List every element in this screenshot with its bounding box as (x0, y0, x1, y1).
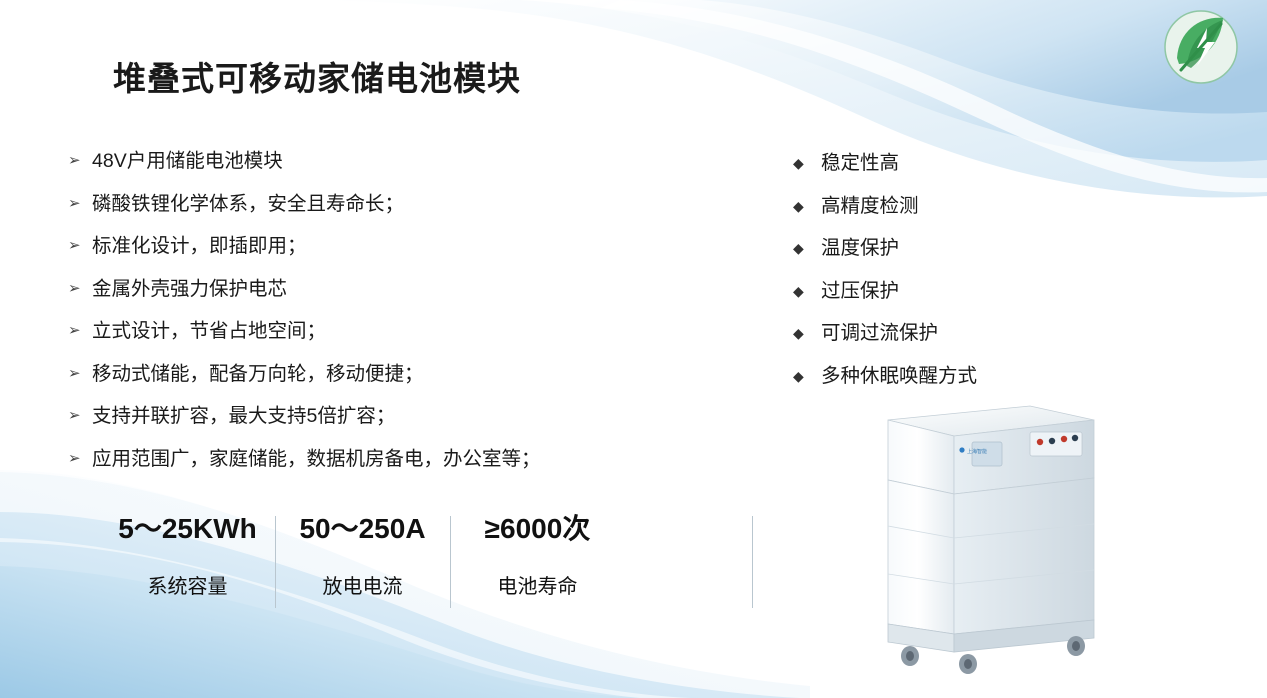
list-item: ◆ 温度保护 (793, 235, 1113, 261)
list-item-label: 移动式储能，配备万向轮，移动便捷； (92, 361, 424, 387)
diamond-bullet-icon: ◆ (793, 363, 821, 389)
list-item-label: 立式设计，节省占地空间； (92, 318, 326, 344)
spec-stats: 5～25KWh 系统容量 50～250A 放电电流 ≥6000次 电池寿命 (100, 512, 625, 600)
stat-label: 系统容量 (106, 574, 269, 600)
list-item: ➢ 48V户用储能电池模块 (68, 148, 708, 174)
arrow-bullet-icon: ➢ (68, 276, 92, 302)
list-item-label: 稳定性高 (821, 150, 899, 176)
list-item: ◆ 过压保护 (793, 278, 1113, 304)
stat-value: 50～250A (281, 512, 444, 546)
svg-text:上海智能: 上海智能 (967, 448, 987, 455)
stat-lifecycle: ≥6000次 电池寿命 (450, 512, 625, 600)
stat-capacity: 5～25KWh 系统容量 (100, 512, 275, 600)
list-item-label: 可调过流保护 (821, 320, 938, 346)
stats-divider (752, 516, 753, 608)
list-item: ➢ 磷酸铁锂化学体系，安全且寿命长； (68, 191, 708, 217)
list-item-label: 标准化设计，即插即用； (92, 233, 307, 259)
list-item-label: 48V户用储能电池模块 (92, 148, 283, 174)
arrow-bullet-icon: ➢ (68, 446, 92, 472)
stat-value: 5～25KWh (106, 512, 269, 546)
list-item: ◆ 高精度检测 (793, 193, 1113, 219)
stat-current: 50～250A 放电电流 (275, 512, 450, 600)
diamond-bullet-icon: ◆ (793, 150, 821, 176)
arrow-bullet-icon: ➢ (68, 318, 92, 344)
list-item: ➢ 金属外壳强力保护电芯 (68, 276, 708, 302)
slide-canvas: 堆叠式可移动家储电池模块 ➢ 48V户用储能电池模块 ➢ 磷酸铁锂化学体系，安全… (0, 0, 1267, 698)
arrow-bullet-icon: ➢ (68, 361, 92, 387)
company-logo (1157, 8, 1245, 86)
list-item-label: 温度保护 (821, 235, 899, 261)
list-item: ➢ 标准化设计，即插即用； (68, 233, 708, 259)
feature-list-right: ◆ 稳定性高 ◆ 高精度检测 ◆ 温度保护 ◆ 过压保护 ◆ 可调过流保护 ◆ … (793, 150, 1113, 405)
list-item: ➢ 立式设计，节省占地空间； (68, 318, 708, 344)
list-item: ➢ 支持并联扩容，最大支持5倍扩容； (68, 403, 708, 429)
list-item: ➢ 应用范围广，家庭储能，数据机房备电，办公室等； (68, 446, 708, 472)
arrow-bullet-icon: ➢ (68, 148, 92, 174)
product-image: 上海智能 (880, 398, 1115, 683)
arrow-bullet-icon: ➢ (68, 403, 92, 429)
list-item: ◆ 稳定性高 (793, 150, 1113, 176)
stat-value: ≥6000次 (456, 512, 619, 546)
list-item-label: 应用范围广，家庭储能，数据机房备电，办公室等； (92, 446, 541, 472)
arrow-bullet-icon: ➢ (68, 191, 92, 217)
list-item: ◆ 多种休眠唤醒方式 (793, 363, 1113, 389)
page-title: 堆叠式可移动家储电池模块 (113, 52, 521, 100)
diamond-bullet-icon: ◆ (793, 278, 821, 304)
list-item-label: 支持并联扩容，最大支持5倍扩容； (92, 403, 395, 429)
stat-label: 电池寿命 (456, 574, 619, 600)
list-item-label: 过压保护 (821, 278, 899, 304)
list-item: ➢ 移动式储能，配备万向轮，移动便捷； (68, 361, 708, 387)
arrow-bullet-icon: ➢ (68, 233, 92, 259)
list-item-label: 磷酸铁锂化学体系，安全且寿命长； (92, 191, 404, 217)
stat-label: 放电电流 (281, 574, 444, 600)
diamond-bullet-icon: ◆ (793, 235, 821, 261)
diamond-bullet-icon: ◆ (793, 320, 821, 346)
list-item-label: 高精度检测 (821, 193, 919, 219)
list-item: ◆ 可调过流保护 (793, 320, 1113, 346)
diamond-bullet-icon: ◆ (793, 193, 821, 219)
list-item-label: 金属外壳强力保护电芯 (92, 276, 287, 302)
list-item-label: 多种休眠唤醒方式 (821, 363, 977, 389)
feature-list-left: ➢ 48V户用储能电池模块 ➢ 磷酸铁锂化学体系，安全且寿命长； ➢ 标准化设计… (68, 148, 708, 488)
